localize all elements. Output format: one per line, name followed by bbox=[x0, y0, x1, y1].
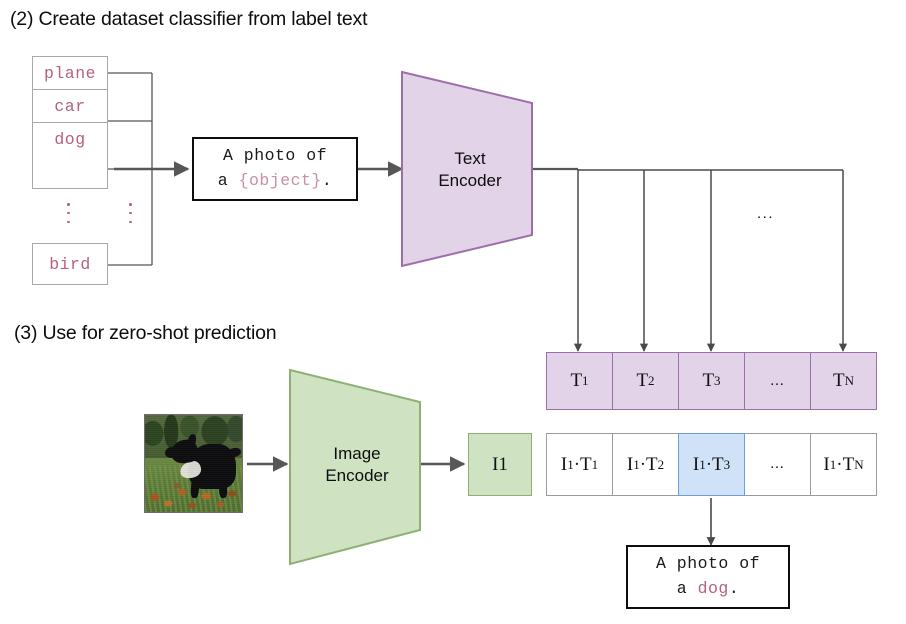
image-encoder-label-line1: Image bbox=[305, 443, 409, 465]
image-embedding-box[interactable]: I1 bbox=[468, 433, 532, 496]
prediction-predicted-word: dog bbox=[698, 579, 729, 598]
clip-zero-shot-diagram: (2) Create dataset classifier from label… bbox=[0, 0, 906, 624]
prediction-line2-suffix: . bbox=[729, 579, 739, 598]
similarity-cell-sub2: 1 bbox=[592, 457, 599, 473]
image-embedding-subscript: 1 bbox=[498, 454, 508, 476]
similarity-cell-ellipsis: ... bbox=[744, 433, 811, 496]
similarity-cell-highlighted[interactable]: I1·T3 bbox=[678, 433, 745, 496]
prediction-line-2: a dog. bbox=[677, 577, 739, 602]
similarity-cell-sub2: N bbox=[854, 457, 863, 473]
image-encoder-label: Image Encoder bbox=[305, 443, 409, 487]
similarity-cell-sub2: 3 bbox=[724, 457, 731, 473]
prediction-line2-prefix: a bbox=[677, 579, 698, 598]
image-encoder-shape-wrap bbox=[0, 0, 906, 624]
similarity-cell-mid: ·T bbox=[574, 454, 592, 476]
prediction-output-box[interactable]: A photo of a dog. bbox=[626, 545, 790, 609]
prediction-line-1: A photo of bbox=[656, 552, 760, 577]
image-encoder-label-line2: Encoder bbox=[305, 465, 409, 487]
similarity-cell-sub2: 2 bbox=[658, 457, 665, 473]
similarity-cell[interactable]: I1·TN bbox=[810, 433, 877, 496]
similarity-cell-mid: ·T bbox=[640, 454, 658, 476]
similarity-cell-mid: ·T bbox=[706, 454, 724, 476]
similarity-scores-row: I1·T1 I1·T2 I1·T3 ... I1·TN bbox=[546, 433, 877, 496]
similarity-cell[interactable]: I1·T2 bbox=[612, 433, 679, 496]
similarity-cell[interactable]: I1·T1 bbox=[546, 433, 613, 496]
similarity-row-ellipsis: ... bbox=[770, 456, 784, 473]
similarity-cell-mid: ·T bbox=[836, 454, 854, 476]
image-encoder-svg[interactable] bbox=[0, 0, 906, 624]
